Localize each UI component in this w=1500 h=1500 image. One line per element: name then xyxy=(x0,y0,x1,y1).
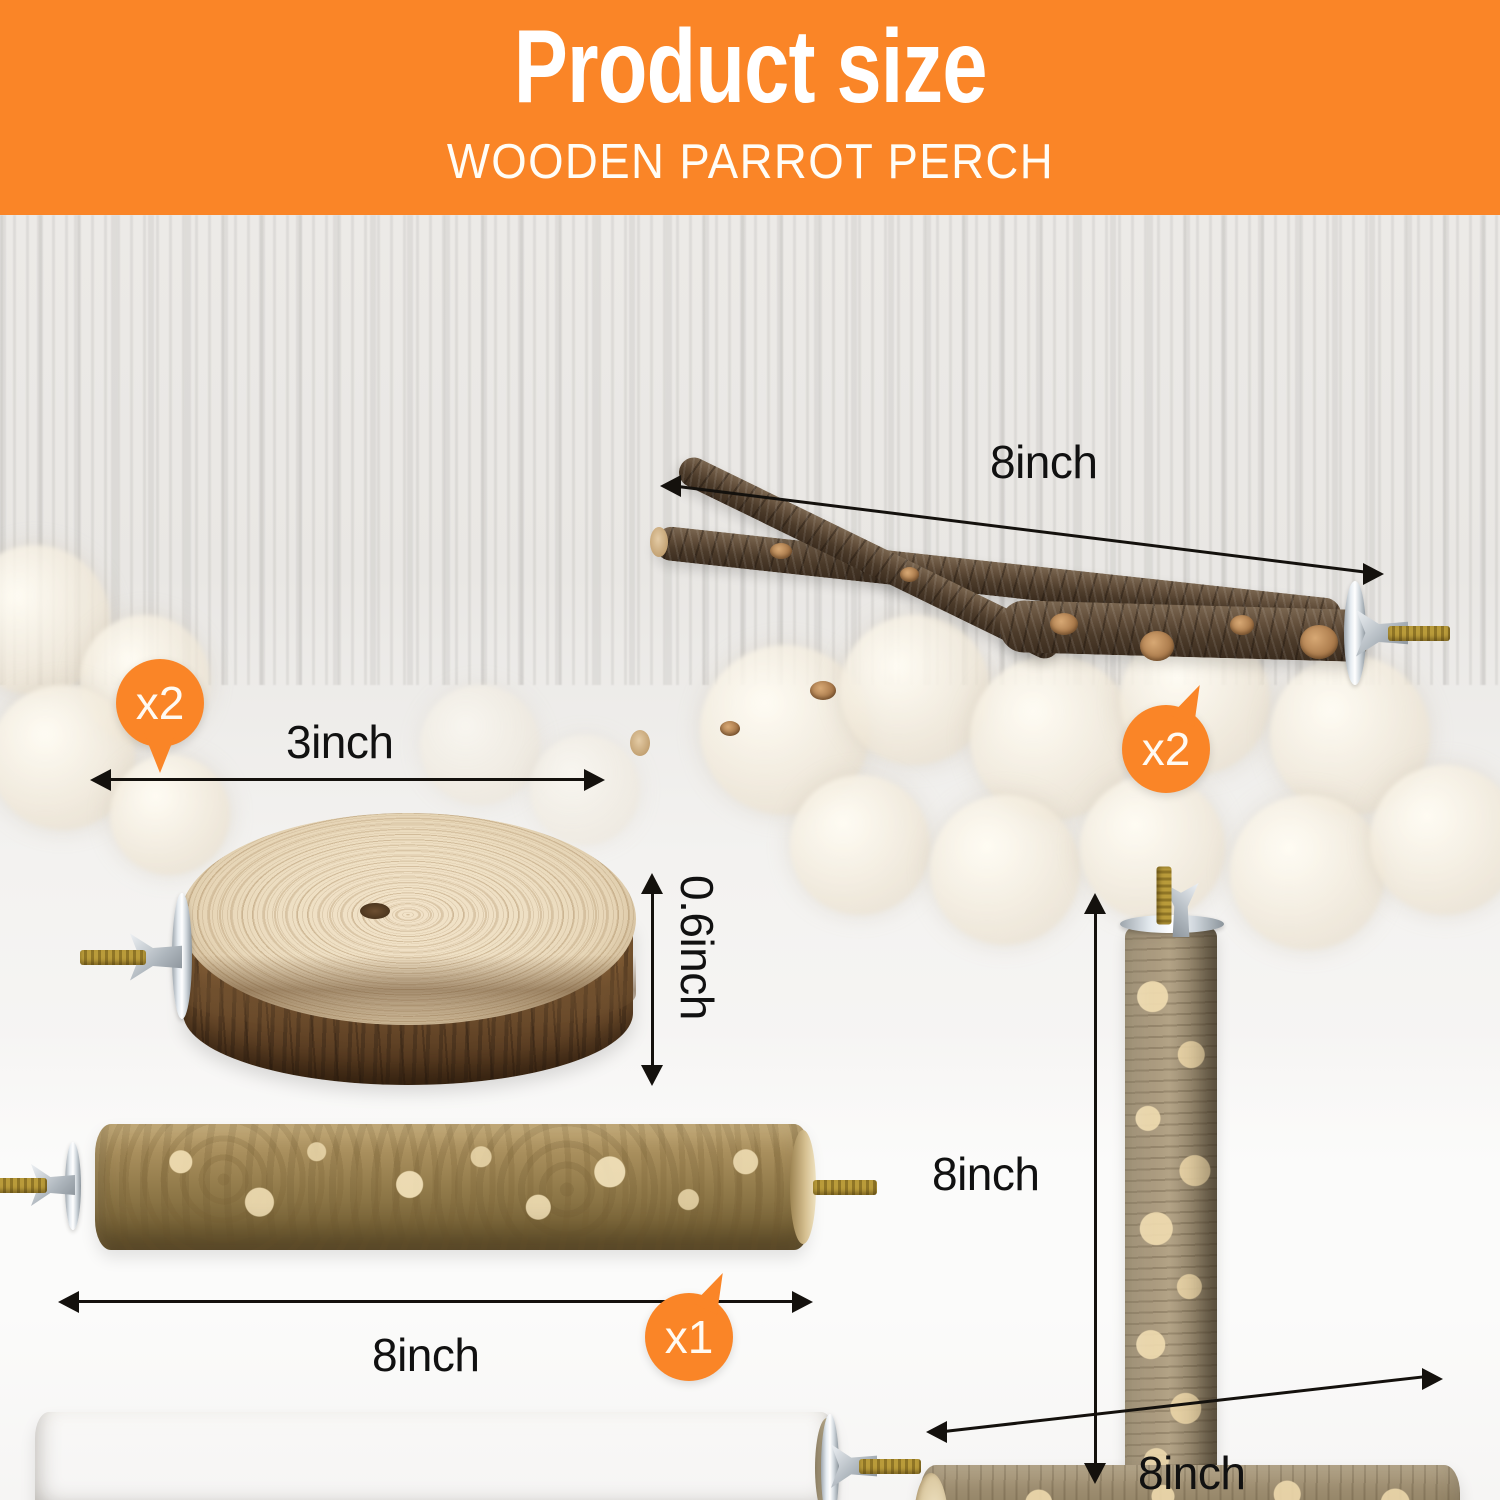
quantity-badge-label: x2 xyxy=(1142,722,1191,776)
knotlog-bolt-right xyxy=(813,1180,877,1195)
disc-pith-center xyxy=(360,903,390,919)
page-title: Product size xyxy=(514,14,987,120)
product-size-infographic: Product size WOODEN PARROT PERCH xyxy=(0,0,1500,1500)
dimension-line xyxy=(108,778,598,781)
arrowhead-up xyxy=(641,873,663,894)
branch-knot xyxy=(1140,631,1174,661)
dimension-line xyxy=(678,485,1373,574)
dimension-label: 8inch xyxy=(1138,1446,1245,1500)
disc-growth-rings xyxy=(180,813,636,1025)
quantity-badge-knotlog: x1 xyxy=(645,1293,733,1381)
quantity-badge-label: x1 xyxy=(665,1310,714,1364)
dimension-label: 8inch xyxy=(932,1147,1039,1201)
arrowhead-down xyxy=(641,1065,663,1086)
round-wood-disc xyxy=(138,805,668,1115)
header-banner: Product size WOODEN PARROT PERCH xyxy=(0,0,1500,215)
branch-knot xyxy=(810,681,836,700)
arrowhead-right xyxy=(584,769,605,791)
arrowhead-right xyxy=(1363,563,1384,585)
branch-knot xyxy=(1230,615,1254,635)
arrowhead-left xyxy=(926,1421,947,1443)
bolt-icon xyxy=(80,950,146,965)
bark-log-perch xyxy=(35,1400,875,1500)
knotty-log-perch xyxy=(55,1110,845,1270)
dimension-disc-diameter: 3inch xyxy=(96,715,606,805)
page-subtitle: WOODEN PARROT PERCH xyxy=(446,134,1053,190)
arrowhead-up xyxy=(1084,893,1106,914)
dimension-line xyxy=(944,1374,1433,1433)
product-photo-area: 8inch x2 x2 xyxy=(0,215,1500,1500)
dimension-label: 0.6inch xyxy=(670,875,724,1020)
dimension-label: 8inch xyxy=(372,1328,479,1382)
branch-knot xyxy=(1050,613,1078,635)
knotty-log-body xyxy=(95,1124,810,1250)
dimension-label: 3inch xyxy=(286,715,393,769)
dimension-tstand-base: 8inch xyxy=(928,1360,1458,1490)
dimension-label: 8inch xyxy=(990,435,1097,489)
dimension-branch-length: 8inch xyxy=(660,463,1390,573)
branch-knot xyxy=(720,721,740,736)
arrowhead-right xyxy=(792,1291,813,1313)
arrowhead-left xyxy=(660,475,681,497)
dimension-line xyxy=(651,891,654,1069)
bolt-icon xyxy=(1388,626,1450,641)
bolt-icon xyxy=(0,1178,47,1193)
arrowhead-right xyxy=(1422,1368,1443,1390)
branch-cut-end xyxy=(630,730,650,756)
arrowhead-left xyxy=(90,769,111,791)
bark-log-body xyxy=(35,1412,835,1500)
dimension-disc-thickness: 0.6inch xyxy=(636,875,756,1085)
washer-plate-icon xyxy=(1344,581,1366,685)
arrowhead-left xyxy=(58,1291,79,1313)
quantity-badge-branch: x2 xyxy=(1122,705,1210,793)
branch-knot xyxy=(1300,625,1338,659)
